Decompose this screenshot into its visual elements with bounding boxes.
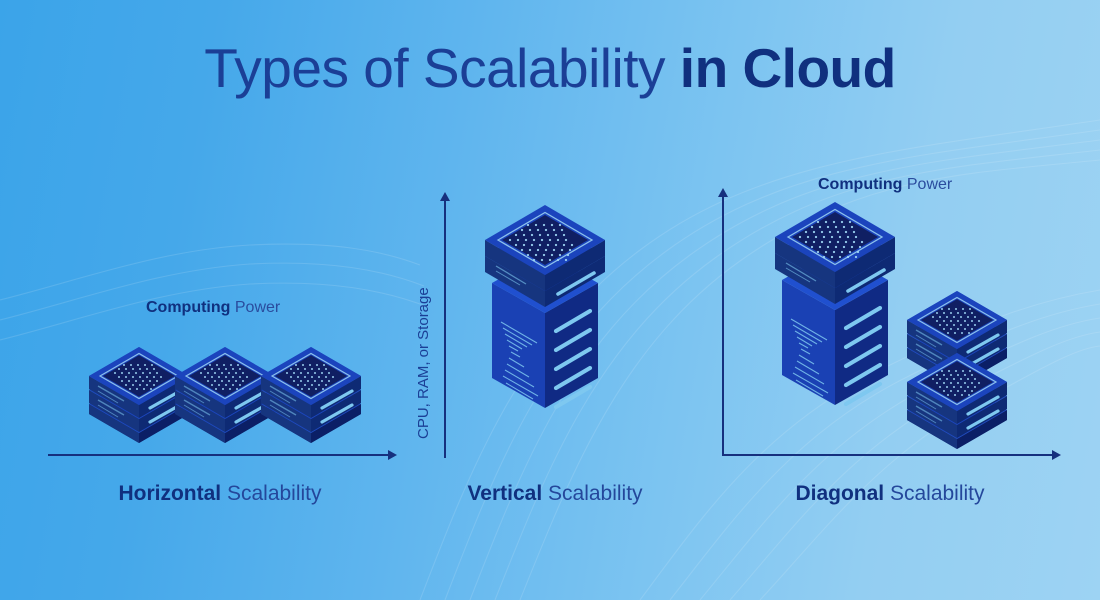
page-title: Types of Scalability in Cloud: [0, 36, 1100, 100]
caption-regular: Scalability: [221, 482, 321, 505]
caption-regular: Scalability: [884, 482, 984, 505]
server-tower-diagonal: [760, 205, 910, 435]
axis-diagonal-horizontal-line: [722, 454, 1057, 456]
caption-diagonal: Diagonal Scalability: [740, 482, 1040, 506]
title-regular-part: Types of Scalability: [204, 37, 680, 99]
caption-bold: Vertical: [467, 482, 542, 505]
axis-diagonal-vertical-arrowhead: [718, 188, 728, 197]
server-unit-d-lower: [902, 358, 1012, 448]
server-unit-h3: [256, 352, 366, 442]
computing-power-label-diagonal: Computing Power: [818, 176, 952, 194]
axis-horizontal-arrowhead: [388, 450, 397, 460]
computing-power-bold: Computing: [146, 299, 230, 316]
computing-power-bold: Computing: [818, 176, 902, 193]
title-bold-part: in Cloud: [680, 37, 896, 99]
axis-vertical-arrowhead: [440, 192, 450, 201]
axis-diagonal-horizontal-arrowhead: [1052, 450, 1061, 460]
caption-regular: Scalability: [542, 482, 642, 505]
y-axis-label: CPU, RAM, or Storage: [415, 287, 432, 439]
caption-horizontal: Horizontal Scalability: [70, 482, 370, 506]
infographic-canvas: Types of Scalability in Cloud Computing …: [0, 0, 1100, 600]
caption-bold: Diagonal: [795, 482, 884, 505]
caption-vertical: Vertical Scalability: [405, 482, 705, 506]
server-tower-vertical: [470, 208, 620, 438]
computing-power-regular: Power: [230, 299, 280, 316]
axis-horizontal-line: [48, 454, 393, 456]
axis-diagonal-vertical-line: [722, 196, 724, 456]
computing-power-label-horizontal: Computing Power: [146, 299, 280, 317]
caption-bold: Horizontal: [118, 482, 221, 505]
computing-power-regular: Power: [902, 176, 952, 193]
axis-vertical-line: [444, 200, 446, 458]
